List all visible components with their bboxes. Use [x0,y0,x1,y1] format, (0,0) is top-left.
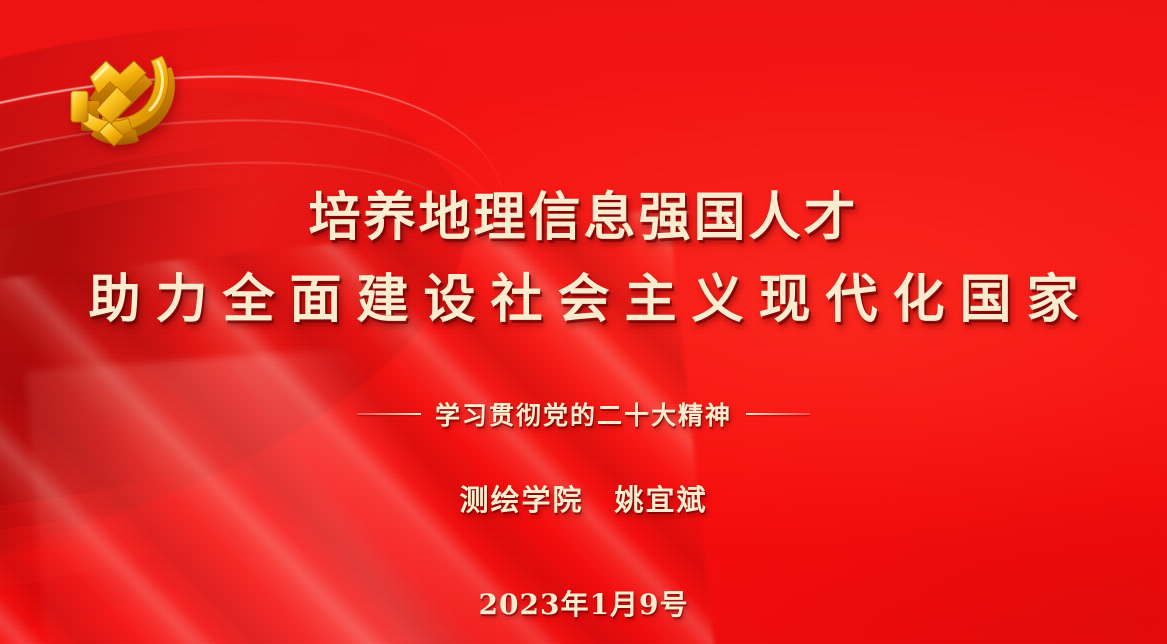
subtitle-row: 学习贯彻党的二十大精神 [0,396,1167,432]
subtitle-rule-left-icon [357,413,421,415]
subtitle-rule-right-icon [746,413,810,415]
date-line: 2023年1月9号 [0,583,1167,623]
slide-content: 培养地理信息强国人才 助力全面建设社会主义现代化国家 学习贯彻党的二十大精神 测… [0,0,1167,644]
presenter-line: 测绘学院 姚宜斌 [0,477,1167,519]
title-line-1: 培养地理信息强国人才 [0,191,1167,246]
title-slide: 培养地理信息强国人才 助力全面建设社会主义现代化国家 学习贯彻党的二十大精神 测… [0,0,1167,644]
title-line-2: 助力全面建设社会主义现代化国家 [0,273,1167,328]
subtitle-text: 学习贯彻党的二十大精神 [435,396,732,432]
